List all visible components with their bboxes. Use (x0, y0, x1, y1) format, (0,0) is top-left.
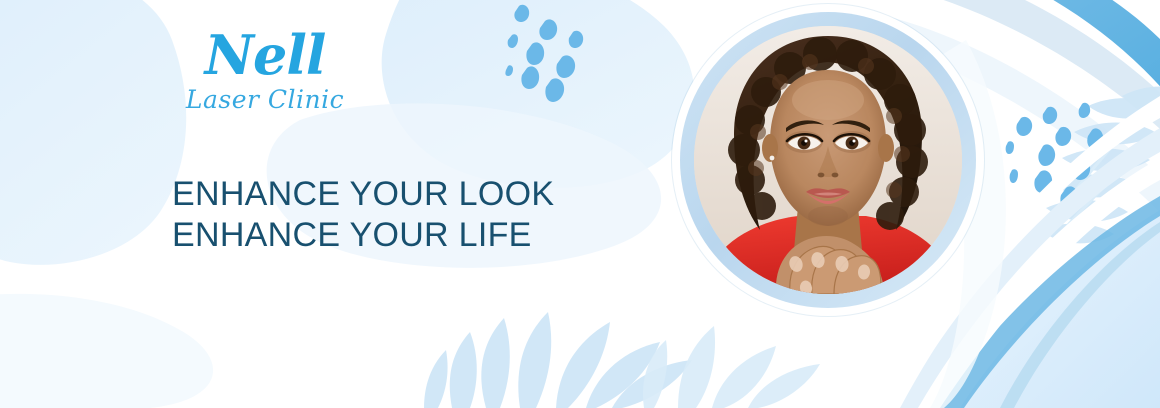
portrait-frame (672, 4, 984, 316)
tagline-line-1: ENHANCE YOUR LOOK (172, 174, 554, 215)
portrait-photo (694, 26, 962, 294)
hero-banner: Nell Laser Clinic ENHANCE YOUR LOOK ENHA… (0, 0, 1160, 408)
hero-tagline: ENHANCE YOUR LOOK ENHANCE YOUR LIFE (172, 174, 554, 257)
logo-name: Nell (150, 28, 380, 82)
blob-bottom-left (0, 294, 213, 408)
tagline-line-2: ENHANCE YOUR LIFE (172, 215, 554, 256)
logo-subtitle: Laser Clinic (150, 86, 380, 114)
brand-logo[interactable]: Nell Laser Clinic (150, 28, 380, 114)
